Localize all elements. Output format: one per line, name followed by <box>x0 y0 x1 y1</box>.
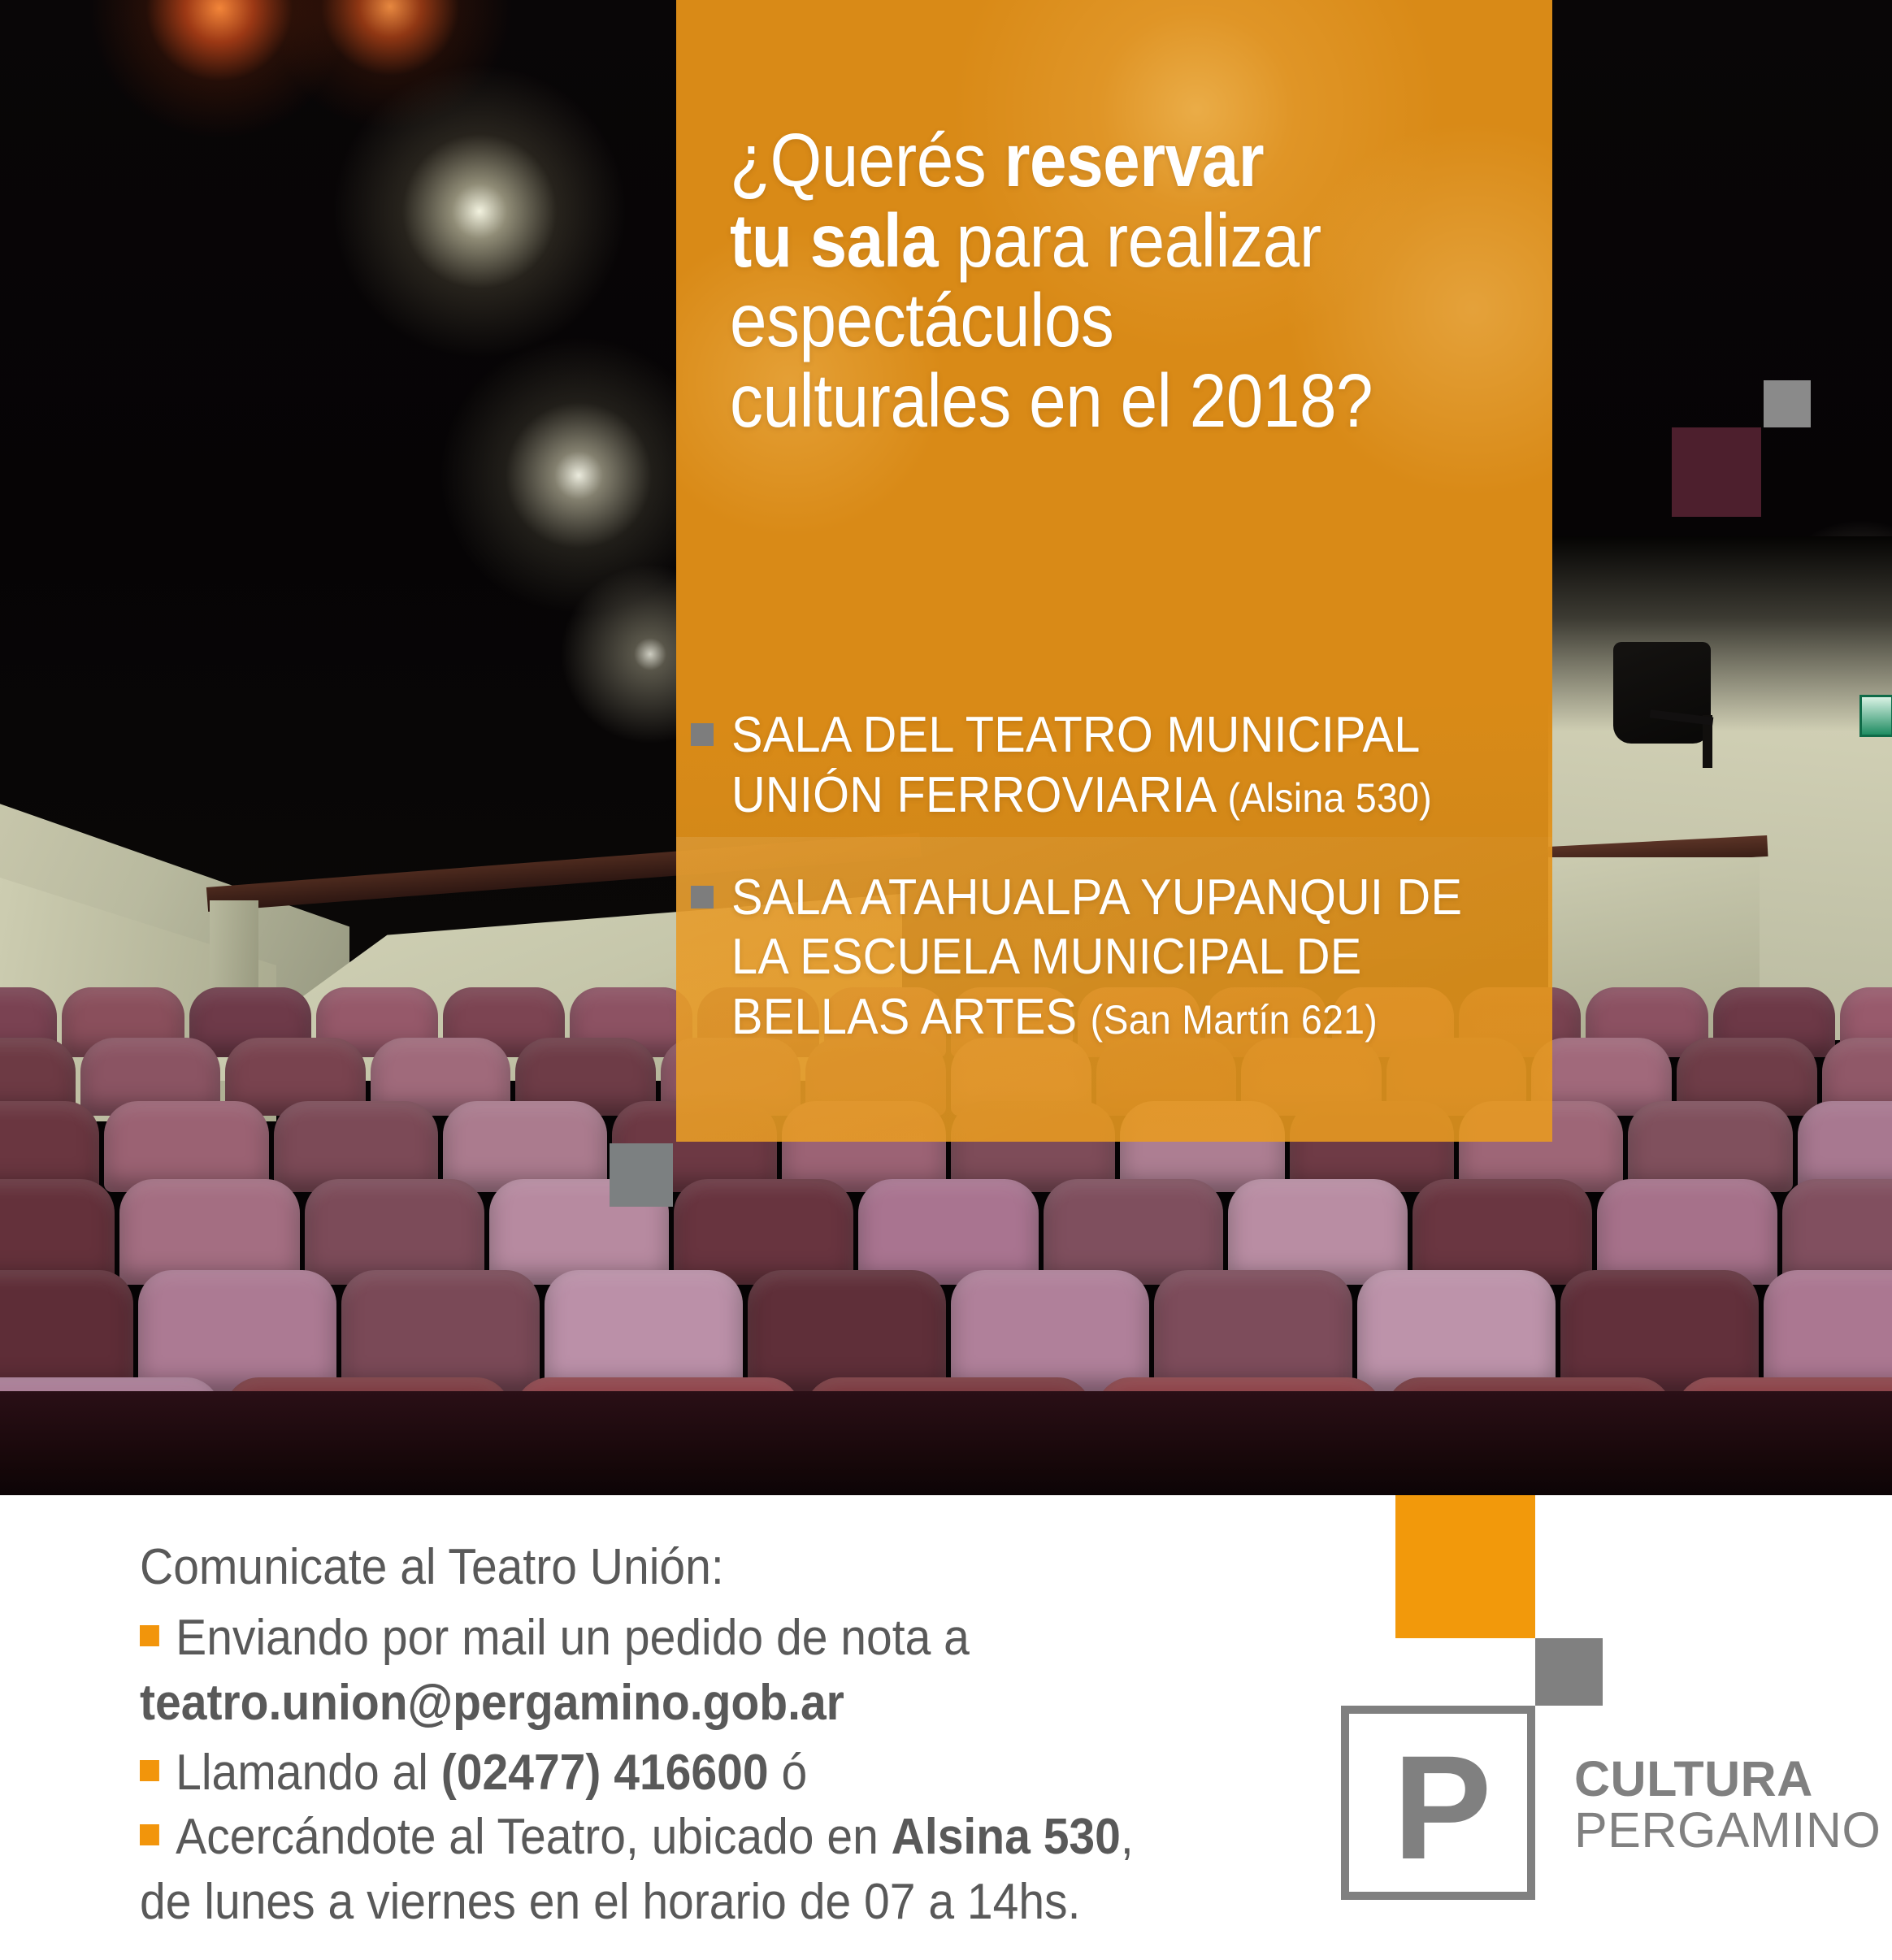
right-wall-shadow <box>1548 536 1892 731</box>
headline-line1-bold: reservar <box>1005 118 1265 202</box>
headline-line4: culturales en el 2018? <box>730 358 1373 443</box>
contact-address-value: Alsina 530 <box>892 1809 1121 1865</box>
poster-root: ¿Querés reservar tu sala para realizar e… <box>0 0 1892 1960</box>
venue-text: SALA ATAHUALPA YUPANQUI DE LA ESCUELA MU… <box>731 868 1486 1047</box>
logo-word-pergamino: PERGAMINO <box>1574 1805 1881 1856</box>
contact-email-line: teatro.union@pergamino.gob.ar <box>140 1672 1201 1734</box>
logo-wordmark: CULTURA PERGAMINO <box>1574 1754 1881 1857</box>
venue-text: SALA DEL TEATRO MUNICIPAL UNIÓN FERROVIA… <box>731 705 1486 826</box>
headline-line2-bold: tu sala <box>730 198 938 283</box>
contact-title: Comunicate al Teatro Unión: <box>140 1537 1201 1598</box>
contact-address-post: , <box>1121 1809 1134 1865</box>
contact-item-phone: Llamando al (02477) 416600 ó <box>140 1742 1201 1804</box>
logo-p-box: P <box>1341 1706 1535 1900</box>
headline-line2-light: para realizar <box>938 198 1321 283</box>
seat-row <box>0 1179 1892 1285</box>
decorative-maroon-square <box>1672 427 1761 517</box>
contact-email[interactable]: teatro.union@pergamino.gob.ar <box>140 1675 844 1731</box>
cultura-pergamino-logo: P CULTURA PERGAMINO <box>1341 1495 1892 1960</box>
headline-line3: espectáculos <box>730 278 1113 362</box>
decorative-gray-square-seats <box>610 1143 673 1207</box>
square-bullet-icon <box>140 1824 159 1845</box>
exit-sign-icon <box>1859 695 1892 737</box>
venue-item: SALA ATAHUALPA YUPANQUI DE LA ESCUELA MU… <box>681 868 1543 1047</box>
contact-item-mail: Enviando por mail un pedido de nota a <box>140 1607 1201 1669</box>
contact-phone-post: ó <box>769 1745 808 1801</box>
venue-list: SALA DEL TEATRO MUNICIPAL UNIÓN FERROVIA… <box>681 705 1543 1090</box>
square-bullet-icon <box>140 1760 159 1781</box>
square-bullet-icon <box>691 886 714 908</box>
logo-orange-square <box>1395 1495 1535 1638</box>
square-bullet-icon <box>140 1625 159 1646</box>
venue-address: (San Martín 621) <box>1091 997 1378 1043</box>
floor-shadow <box>0 1391 1892 1495</box>
contact-item-mail-text: Enviando por mail un pedido de nota a <box>176 1610 970 1666</box>
venue-address: (Alsina 530) <box>1228 775 1432 821</box>
decorative-gray-square-top <box>1764 380 1811 427</box>
seat-row <box>0 1270 1892 1392</box>
speaker-icon <box>1613 642 1711 744</box>
contact-address-pre: Acercándote al Teatro, ubicado en <box>176 1809 892 1865</box>
headline-line1-light: ¿Querés <box>730 118 1005 202</box>
contact-item-address: Acercándote al Teatro, ubicado en Alsina… <box>140 1806 1201 1868</box>
logo-word-cultura: CULTURA <box>1574 1754 1881 1805</box>
contact-phone-number[interactable]: (02477) 416600 <box>441 1745 769 1801</box>
venue-item: SALA DEL TEATRO MUNICIPAL UNIÓN FERROVIA… <box>681 705 1543 826</box>
logo-gray-square <box>1535 1638 1603 1706</box>
contact-block: Comunicate al Teatro Unión: Enviando por… <box>140 1537 1294 1941</box>
contact-phone-pre: Llamando al <box>176 1745 441 1801</box>
contact-hours: de lunes a viernes en el horario de 07 a… <box>140 1871 1201 1933</box>
footer-bar: Comunicate al Teatro Unión: Enviando por… <box>0 1495 1892 1960</box>
headline: ¿Querés reservar tu sala para realizar e… <box>730 120 1430 440</box>
logo-monogram-p: P <box>1393 1738 1490 1876</box>
square-bullet-icon <box>691 723 714 746</box>
